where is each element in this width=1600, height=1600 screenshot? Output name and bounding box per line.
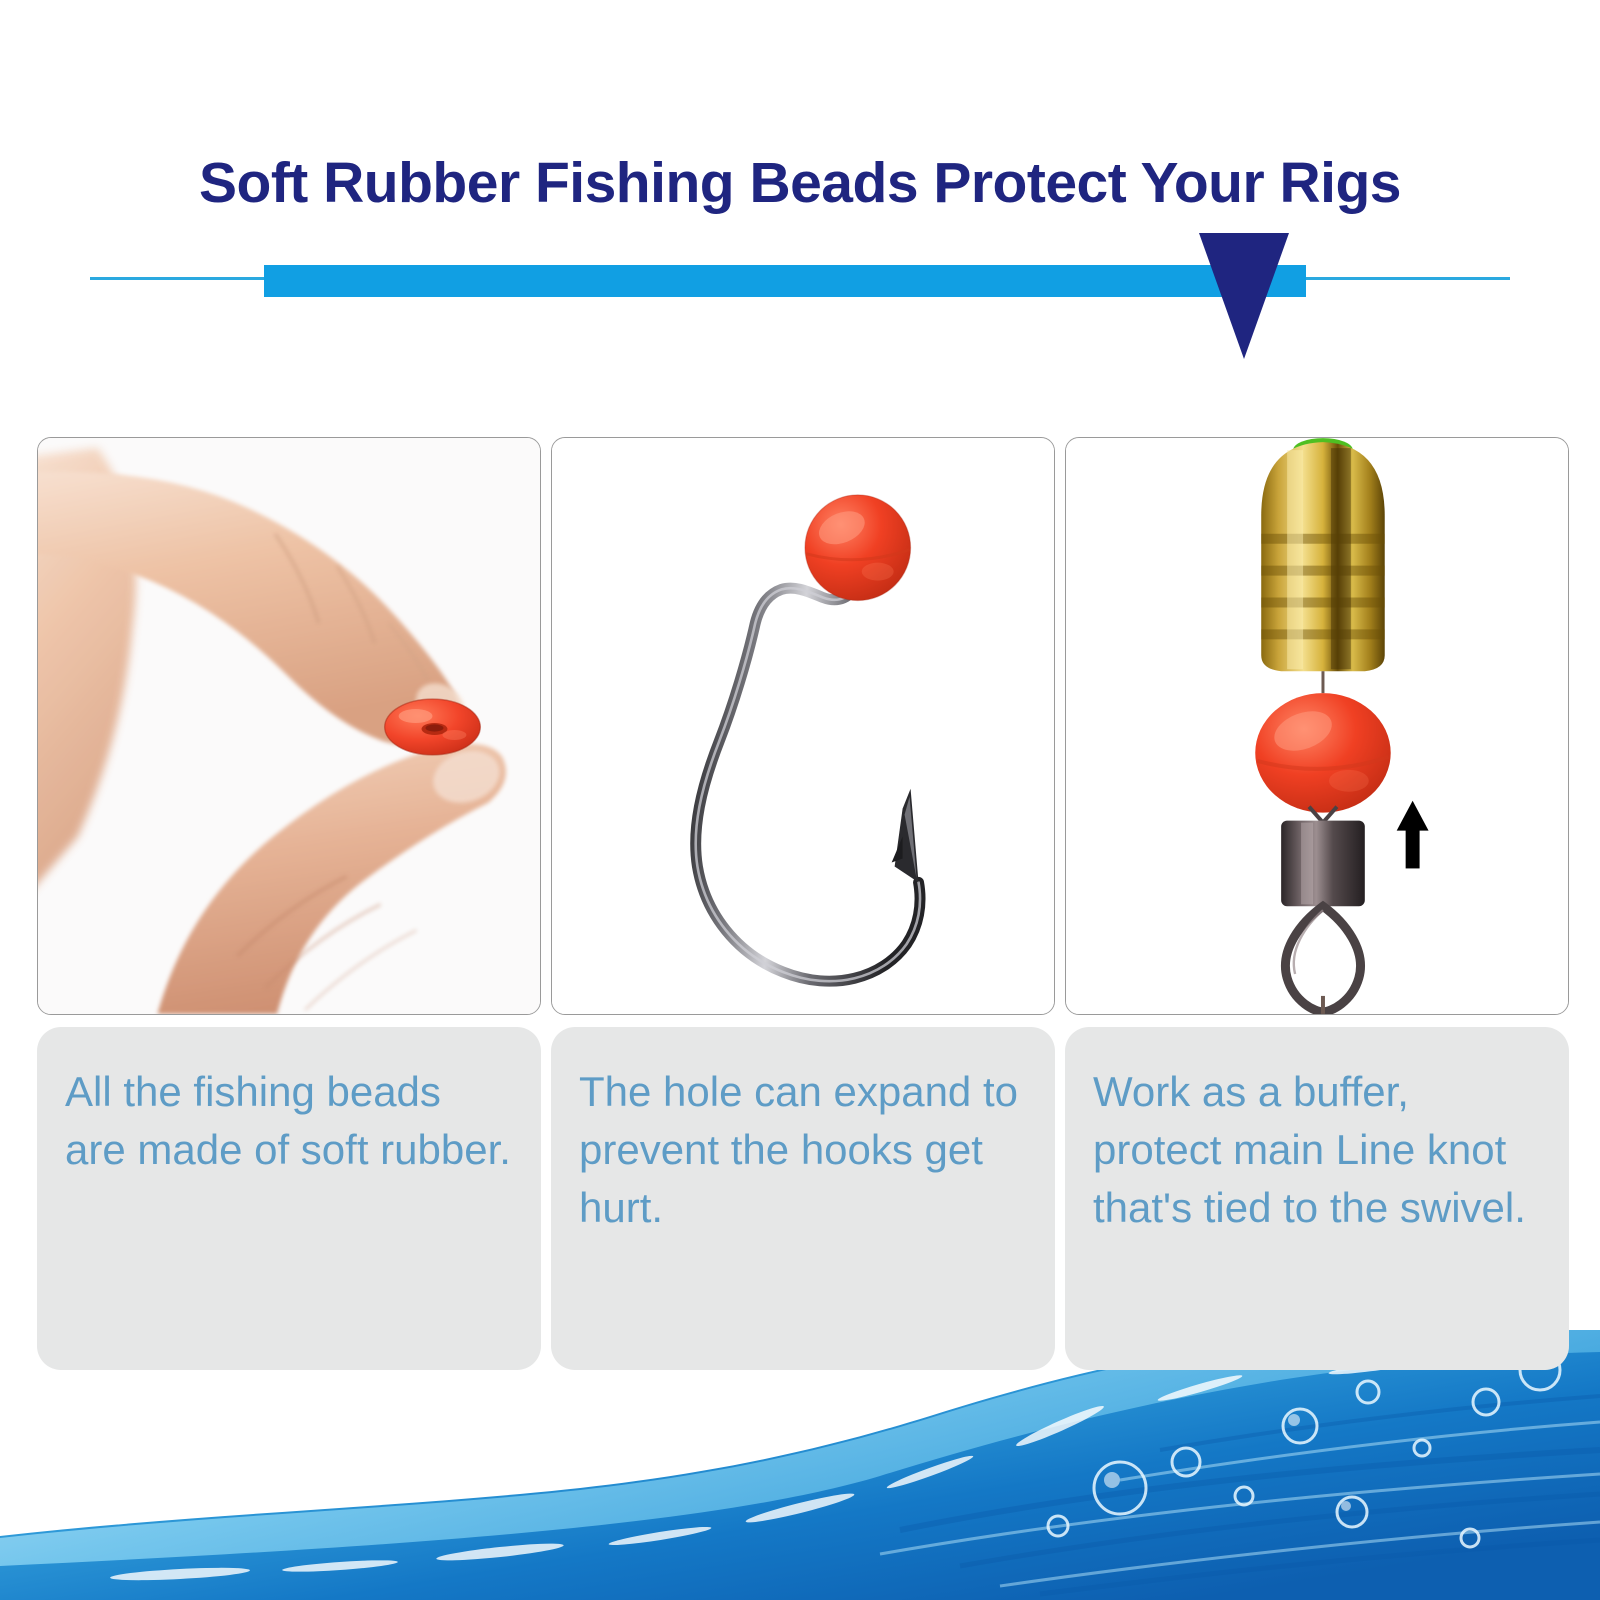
panel-row [37,437,1571,1015]
page-title: Soft Rubber Fishing Beads Protect Your R… [0,150,1600,216]
caption-row: All the fishing beads are made of soft r… [37,1027,1571,1370]
triangle-down-icon [1199,233,1289,359]
fingers-pinching-red-bead-photo [38,438,540,1014]
caption-hole-expand: The hole can expand to prevent the hooks… [551,1027,1055,1370]
caption-buffer: Work as a buffer, protect main Line knot… [1065,1027,1569,1370]
panel-hole-expand[interactable] [551,437,1055,1015]
caption-soft-rubber: All the fishing beads are made of soft r… [37,1027,541,1370]
bullet-sinker-bead-swivel-rig-photo [1066,438,1568,1014]
water-surface-graphic [0,1330,1600,1600]
panel-soft-rubber[interactable] [37,437,541,1015]
divider-thick-bar [264,265,1306,297]
panel-buffer[interactable] [1065,437,1569,1015]
offset-worm-hook-with-red-bead-photo [552,438,1054,1014]
